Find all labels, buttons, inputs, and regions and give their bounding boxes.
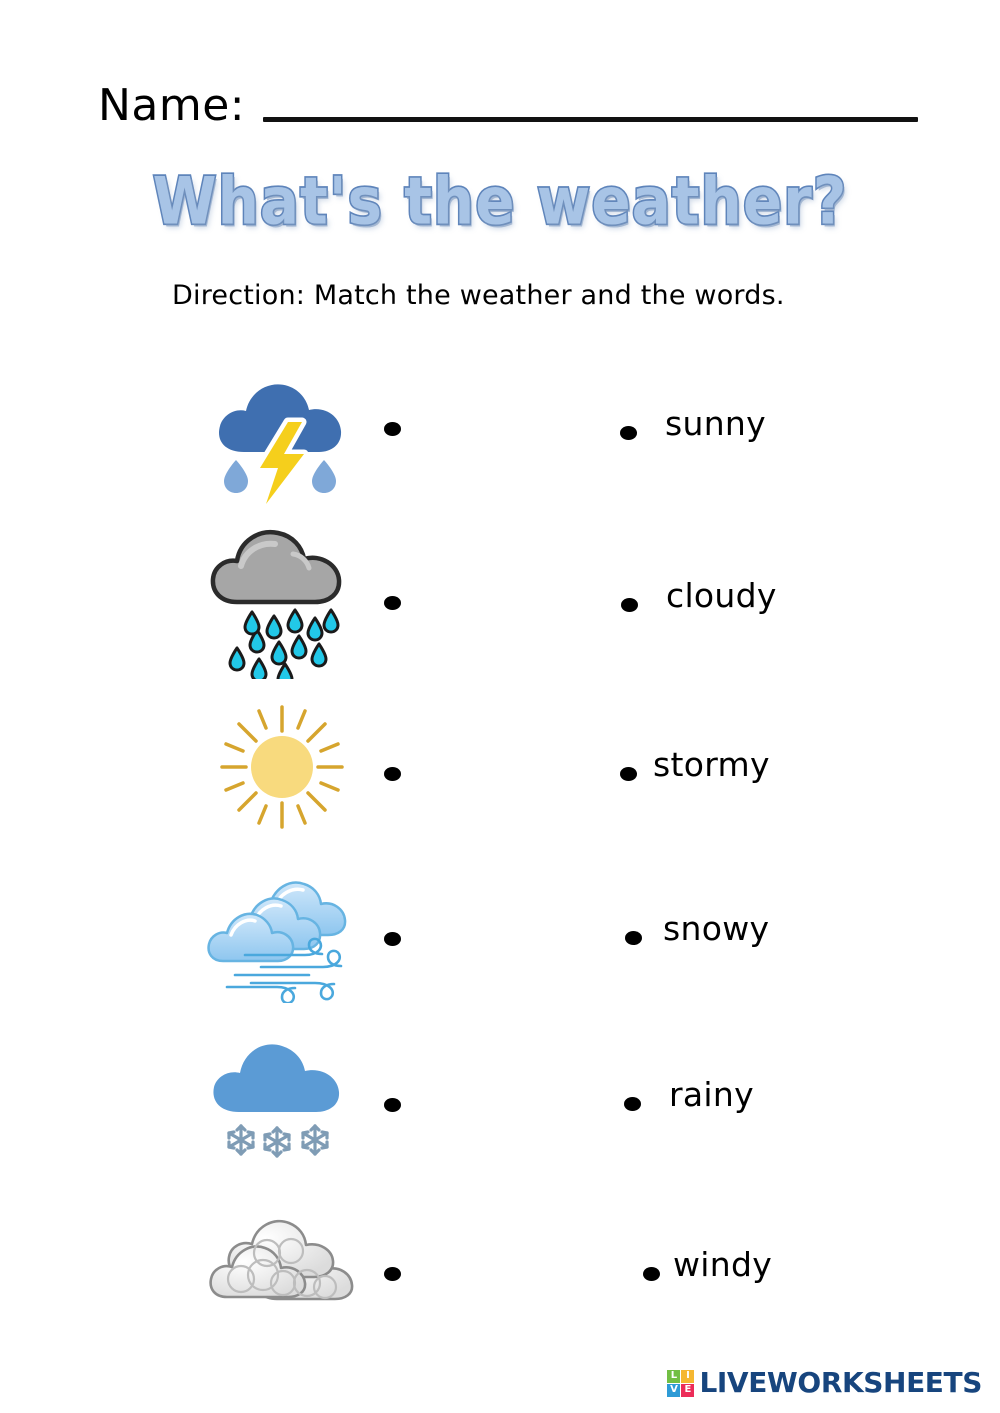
cloud-icon <box>196 1182 368 1348</box>
match-dot-right[interactable] <box>625 931 642 945</box>
rain-icon <box>196 518 368 684</box>
title-wrap: What's the weather? <box>0 168 1000 235</box>
match-dot-right[interactable] <box>624 1097 641 1111</box>
match-dot-left[interactable] <box>384 767 401 781</box>
match-dot-left[interactable] <box>384 1267 401 1281</box>
word-label: sunny <box>665 404 766 443</box>
match-row: stormy <box>0 684 1000 850</box>
match-row: cloudy <box>0 518 1000 684</box>
match-dot-right[interactable] <box>620 426 637 440</box>
brand-name: LIVEWORKSHEETS <box>699 1369 982 1397</box>
match-dot-left[interactable] <box>384 932 401 946</box>
match-row: snowy <box>0 850 1000 1016</box>
match-dot-right[interactable] <box>620 767 637 781</box>
word-label: cloudy <box>666 576 777 615</box>
word-label: stormy <box>653 745 770 784</box>
snow-icon <box>196 1016 368 1182</box>
logo-tile-v: V <box>667 1384 680 1397</box>
storm-icon <box>196 352 368 518</box>
name-row: Name: <box>98 68 918 130</box>
sun-icon <box>196 684 368 850</box>
liveworksheets-logo-icon: L I V E <box>667 1370 694 1397</box>
logo-tile-l: L <box>667 1370 680 1383</box>
name-label: Name: <box>98 84 245 130</box>
logo-tile-e: E <box>681 1384 694 1397</box>
match-row: sunny <box>0 352 1000 518</box>
match-dot-right[interactable] <box>643 1267 660 1281</box>
word-label: rainy <box>669 1075 754 1114</box>
direction-text: Direction: Match the weather and the wor… <box>172 280 785 311</box>
liveworksheets-footer[interactable]: L I V E LIVEWORKSHEETS <box>667 1369 982 1397</box>
word-label: windy <box>673 1245 772 1284</box>
match-dot-left[interactable] <box>384 596 401 610</box>
name-blank-line[interactable] <box>263 117 918 122</box>
matching-exercise: sunny <box>0 352 1000 1348</box>
match-row: windy <box>0 1182 1000 1348</box>
match-dot-right[interactable] <box>621 598 638 612</box>
wind-icon <box>196 850 368 1016</box>
match-row: rainy <box>0 1016 1000 1182</box>
match-dot-left[interactable] <box>384 422 401 436</box>
page-title: What's the weather? <box>153 164 848 239</box>
match-dot-left[interactable] <box>384 1098 401 1112</box>
logo-tile-i: I <box>681 1370 694 1383</box>
word-label: snowy <box>663 909 769 948</box>
